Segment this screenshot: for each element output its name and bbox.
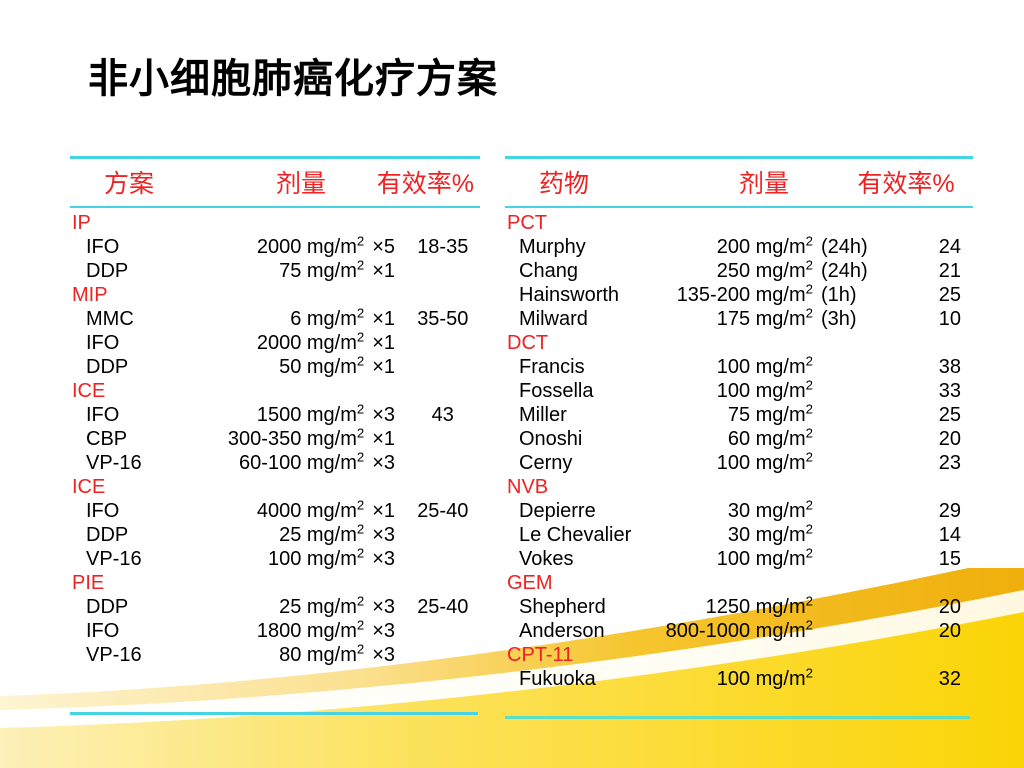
cell-response-rate: 20 [881,619,961,643]
cell-dose: 60-100 mg/m2 [180,451,364,475]
column-header-response-rate: 有效率% [371,164,480,200]
cell-dose: 100 mg/m2 [659,451,813,475]
cell-drug-name: Fossella [505,379,659,403]
superscript: 2 [357,449,364,464]
cell-dose: 6 mg/m2 [180,307,364,331]
cell-dose: 30 mg/m2 [659,499,813,523]
cell-dose: 100 mg/m2 [659,379,813,403]
superscript: 2 [357,305,364,320]
cell-drug-name: Le Chevalier [505,523,659,547]
table-row: Anderson800-1000 mg/m220 [505,619,973,643]
cell-response-rate: 29 [881,499,961,523]
cell-cycles: ×1 [364,259,405,283]
cell-dose: 1250 mg/m2 [659,595,813,619]
cell-drug-name: DDP [70,259,180,283]
superscript: 2 [357,593,364,608]
cell-drug-name: Shepherd [505,595,659,619]
cell-response-rate: 25-40 [406,499,480,523]
cell-dose: 135-200 mg/m2 [659,283,813,307]
cell-dose: 75 mg/m2 [659,403,813,427]
cell-cycles: ×3 [364,403,405,427]
table-body-right: PCTMurphy200 mg/m2(24h)24Chang250 mg/m2(… [505,208,973,695]
cell-response-rate: 10 [881,307,961,331]
cell-response-rate: 38 [881,355,961,379]
cell-dose: 75 mg/m2 [180,259,364,283]
cell-drug-name: DDP [70,595,180,619]
superscript: 2 [357,401,364,416]
table-rule-bottom-left [70,712,478,715]
cell-cycles: ×3 [364,523,405,547]
cell-cycles: ×1 [364,331,405,355]
superscript: 2 [357,329,364,344]
table-row: VP-1660-100 mg/m2×3 [70,451,480,475]
cell-drug-name: VP-16 [70,643,180,667]
cell-dose: 60 mg/m2 [659,427,813,451]
superscript: 2 [806,377,813,392]
superscript: 2 [357,233,364,248]
cell-drug-name: Miller [505,403,659,427]
superscript: 2 [806,233,813,248]
superscript: 2 [806,449,813,464]
cell-response-rate: 43 [406,403,480,427]
cell-dose: 175 mg/m2 [659,307,813,331]
cell-response-rate: 23 [881,451,961,475]
cell-response-rate: 15 [881,547,961,571]
cell-cycles: ×5 [364,235,405,259]
cell-response-rate: 25 [881,403,961,427]
cell-drug-name: IFO [70,499,180,523]
superscript: 2 [357,425,364,440]
column-header-dose: 剂量 [231,164,370,200]
cell-drug-name: Anderson [505,619,659,643]
superscript: 2 [357,257,364,272]
regimen-group-label: NVB [505,475,973,499]
table-row: Miller75 mg/m225 [505,403,973,427]
table-rule-bottom-right [505,716,970,719]
cell-drug-name: Chang [505,259,659,283]
cell-infusion-duration: (24h) [813,235,881,259]
cell-cycles: ×1 [364,499,405,523]
cell-cycles: ×3 [364,451,405,475]
superscript: 2 [806,617,813,632]
regimen-group-label: ICE [70,475,480,499]
cell-drug-name: DDP [70,523,180,547]
superscript: 2 [806,425,813,440]
cell-dose: 30 mg/m2 [659,523,813,547]
cell-dose: 250 mg/m2 [659,259,813,283]
superscript: 2 [806,545,813,560]
regimen-group-label: ICE [70,379,480,403]
cell-drug-name: Milward [505,307,659,331]
cell-drug-name: IFO [70,403,180,427]
cell-drug-name: DDP [70,355,180,379]
cell-dose: 80 mg/m2 [180,643,364,667]
table-row: Vokes100 mg/m215 [505,547,973,571]
cell-drug-name: Onoshi [505,427,659,451]
cell-cycles: ×3 [364,547,405,571]
superscript: 2 [806,257,813,272]
table-row: Milward175 mg/m2(3h)10 [505,307,973,331]
regimen-group-label: PCT [505,211,973,235]
cell-dose: 100 mg/m2 [659,355,813,379]
column-header-regimen: 方案 [70,164,231,200]
cell-drug-name: Depierre [505,499,659,523]
cell-dose: 1800 mg/m2 [180,619,364,643]
superscript: 2 [357,353,364,368]
table-row: Onoshi60 mg/m220 [505,427,973,451]
superscript: 2 [806,305,813,320]
cell-drug-name: MMC [70,307,180,331]
table-row: Hainsworth135-200 mg/m2(1h)25 [505,283,973,307]
table-row: MMC6 mg/m2×135-50 [70,307,480,331]
cell-infusion-duration: (1h) [813,283,881,307]
table-row: IFO2000 mg/m2×1 [70,331,480,355]
regimen-group-label: DCT [505,331,973,355]
table-row: IFO1800 mg/m2×3 [70,619,480,643]
regimen-group-label: GEM [505,571,973,595]
page-title: 非小细胞肺癌化疗方案 [88,46,498,104]
superscript: 2 [357,641,364,656]
table-row: Fukuoka100 mg/m232 [505,667,973,691]
column-header-response-rate: 有效率% [839,164,973,200]
superscript: 2 [806,401,813,416]
table-row: Fossella100 mg/m233 [505,379,973,403]
cell-response-rate: 25 [881,283,961,307]
cell-drug-name: IFO [70,619,180,643]
table-row: Shepherd1250 mg/m220 [505,595,973,619]
table-header-row-left: 方案 剂量 有效率% [70,159,480,206]
cell-drug-name: VP-16 [70,547,180,571]
cell-drug-name: CBP [70,427,180,451]
regimen-group-label: PIE [70,571,480,595]
regimen-table-left: 方案 剂量 有效率% IPIFO2000 mg/m2×518-35DDP75 m… [70,156,480,671]
cell-response-rate: 25-40 [406,595,480,619]
table-row: IFO2000 mg/m2×518-35 [70,235,480,259]
cell-dose: 25 mg/m2 [180,595,364,619]
regimen-table-right: 药物 剂量 有效率% PCTMurphy200 mg/m2(24h)24Chan… [505,156,973,695]
table-row: Murphy200 mg/m2(24h)24 [505,235,973,259]
superscript: 2 [806,521,813,536]
cell-dose: 800-1000 mg/m2 [659,619,813,643]
cell-response-rate: 20 [881,595,961,619]
cell-drug-name: VP-16 [70,451,180,475]
cell-response-rate: 35-50 [406,307,480,331]
cell-infusion-duration: (24h) [813,259,881,283]
table-row: IFO1500 mg/m2×343 [70,403,480,427]
cell-drug-name: IFO [70,235,180,259]
cell-infusion-duration: (3h) [813,307,881,331]
superscript: 2 [806,353,813,368]
cell-dose: 200 mg/m2 [659,235,813,259]
table-row: CBP300-350 mg/m2×1 [70,427,480,451]
superscript: 2 [806,497,813,512]
table-header-row-right: 药物 剂量 有效率% [505,159,973,206]
cell-drug-name: Hainsworth [505,283,659,307]
table-row: Chang250 mg/m2(24h)21 [505,259,973,283]
cell-dose: 1500 mg/m2 [180,403,364,427]
table-body-left: IPIFO2000 mg/m2×518-35DDP75 mg/m2×1MIPMM… [70,208,480,671]
table-row: IFO4000 mg/m2×125-40 [70,499,480,523]
table-row: VP-1680 mg/m2×3 [70,643,480,667]
superscript: 2 [806,593,813,608]
column-header-dose: 剂量 [689,164,839,200]
column-header-drug: 药物 [505,164,689,200]
regimen-group-label: CPT-11 [505,643,973,667]
table-row: Depierre30 mg/m229 [505,499,973,523]
superscript: 2 [357,545,364,560]
table-row: DDP75 mg/m2×1 [70,259,480,283]
cell-cycles: ×1 [364,307,405,331]
cell-drug-name: Cerny [505,451,659,475]
cell-response-rate: 20 [881,427,961,451]
cell-response-rate: 18-35 [406,235,480,259]
cell-response-rate: 21 [881,259,961,283]
cell-dose: 50 mg/m2 [180,355,364,379]
cell-cycles: ×1 [364,427,405,451]
table-row: Francis100 mg/m238 [505,355,973,379]
regimen-group-label: MIP [70,283,480,307]
superscript: 2 [357,617,364,632]
regimen-group-label: IP [70,211,480,235]
cell-dose: 25 mg/m2 [180,523,364,547]
superscript: 2 [806,281,813,296]
cell-drug-name: Fukuoka [505,667,659,691]
table-row: Le Chevalier30 mg/m214 [505,523,973,547]
cell-response-rate: 24 [881,235,961,259]
cell-drug-name: Murphy [505,235,659,259]
cell-dose: 100 mg/m2 [659,667,813,691]
table-row: DDP25 mg/m2×3 [70,523,480,547]
cell-dose: 100 mg/m2 [659,547,813,571]
cell-dose: 2000 mg/m2 [180,235,364,259]
cell-drug-name: Francis [505,355,659,379]
cell-dose: 100 mg/m2 [180,547,364,571]
cell-drug-name: IFO [70,331,180,355]
cell-dose: 4000 mg/m2 [180,499,364,523]
cell-dose: 300-350 mg/m2 [180,427,364,451]
table-row: VP-16100 mg/m2×3 [70,547,480,571]
superscript: 2 [806,665,813,680]
table-row: DDP50 mg/m2×1 [70,355,480,379]
cell-response-rate: 32 [881,667,961,691]
cell-cycles: ×3 [364,643,405,667]
superscript: 2 [357,521,364,536]
table-row: Cerny100 mg/m223 [505,451,973,475]
cell-response-rate: 14 [881,523,961,547]
superscript: 2 [357,497,364,512]
cell-response-rate: 33 [881,379,961,403]
cell-cycles: ×3 [364,595,405,619]
cell-cycles: ×1 [364,355,405,379]
cell-dose: 2000 mg/m2 [180,331,364,355]
cell-cycles: ×3 [364,619,405,643]
table-row: DDP25 mg/m2×325-40 [70,595,480,619]
cell-drug-name: Vokes [505,547,659,571]
